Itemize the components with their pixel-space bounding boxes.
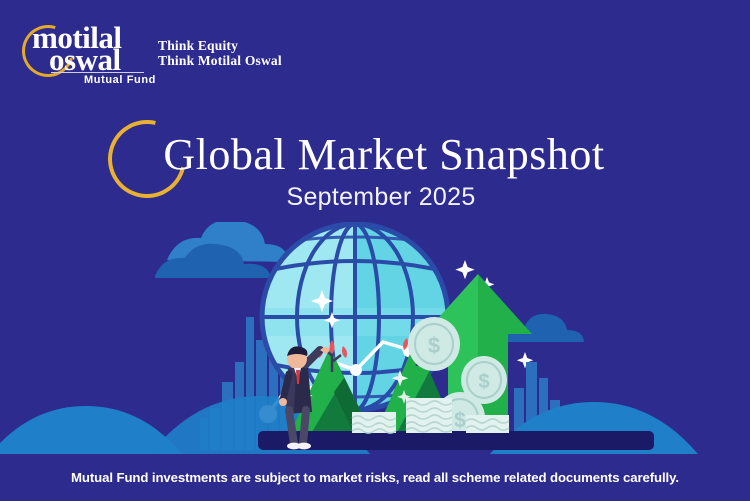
svg-text:$: $	[478, 371, 489, 393]
title-block: Global Market Snapshot September 2025	[0, 112, 750, 222]
page-subtitle: September 2025	[0, 182, 750, 212]
svg-text:$: $	[454, 409, 466, 432]
logo-wordmark-line1: motilal	[32, 23, 122, 53]
brand-tagline: Think Equity Think Motilal Oswal	[158, 38, 282, 68]
logo-divider	[51, 72, 144, 73]
global-market-growth-illustration: $ $ $	[0, 222, 750, 454]
page-title: Global Market Snapshot	[0, 130, 750, 180]
motilal-oswal-logo: motilal oswal Mutual Fund	[18, 22, 166, 90]
svg-text:$: $	[428, 333, 440, 358]
poster-canvas: motilal oswal Mutual Fund Think Equity T…	[0, 0, 750, 501]
disclaimer-text: Mutual Fund investments are subject to m…	[71, 470, 679, 485]
brand-logo-block: motilal oswal Mutual Fund Think Equity T…	[18, 22, 318, 92]
platform-base	[258, 431, 654, 450]
disclaimer-bar: Mutual Fund investments are subject to m…	[0, 454, 750, 501]
